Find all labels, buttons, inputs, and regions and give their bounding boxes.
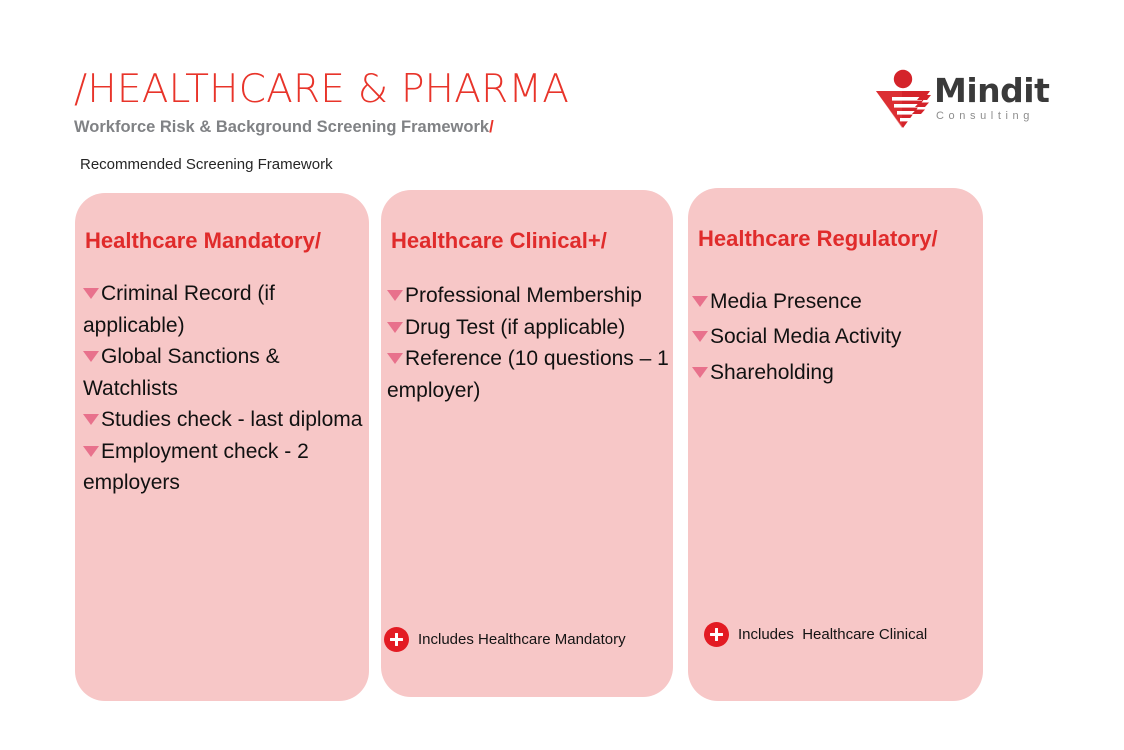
triangle-bullet-icon bbox=[83, 288, 99, 299]
card-title: Healthcare Mandatory/ bbox=[85, 228, 375, 254]
mindit-funnel-logo-icon bbox=[872, 68, 934, 130]
list-item: Reference (10 questions – 1 employer) bbox=[387, 343, 673, 406]
triangle-bullet-icon bbox=[692, 367, 708, 378]
list-item-label: Studies check - last diploma bbox=[101, 408, 362, 431]
list-item-label: Reference (10 questions – 1 employer) bbox=[387, 347, 669, 402]
list-item: Studies check - last diploma bbox=[83, 404, 365, 436]
list-item-label: Employment check - 2 employers bbox=[83, 440, 309, 495]
page-subtitle-slash: / bbox=[489, 118, 494, 136]
list-item-label: Professional Membership bbox=[405, 284, 642, 307]
list-item: Social Media Activity bbox=[692, 323, 982, 351]
list-item-label: Social Media Activity bbox=[710, 325, 901, 348]
card-item-list: Media Presence Social Media Activity Sha… bbox=[692, 288, 982, 394]
list-item: Employment check - 2 employers bbox=[83, 436, 365, 499]
list-item: Drug Test (if applicable) bbox=[387, 312, 673, 344]
triangle-bullet-icon bbox=[692, 331, 708, 342]
triangle-bullet-icon bbox=[83, 351, 99, 362]
list-item: Media Presence bbox=[692, 288, 982, 316]
triangle-bullet-icon bbox=[83, 446, 99, 457]
card-title: Healthcare Clinical+/ bbox=[391, 228, 681, 254]
section-kicker: Recommended Screening Framework bbox=[80, 156, 333, 173]
triangle-bullet-icon bbox=[387, 353, 403, 364]
logo-tagline: Consulting bbox=[936, 111, 1049, 122]
logo-wordmark: Mindit Consulting bbox=[934, 74, 1049, 122]
triangle-bullet-icon bbox=[387, 290, 403, 301]
list-item: Shareholding bbox=[692, 359, 982, 387]
list-item: Criminal Record (if applicable) bbox=[83, 278, 365, 341]
list-item-label: Global Sanctions & Watchlists bbox=[83, 345, 280, 400]
list-item-label: Media Presence bbox=[710, 290, 862, 313]
page-title: /HEALTHCARE & PHARMA bbox=[74, 70, 774, 109]
page-header: /HEALTHCARE & PHARMA Workforce Risk & Ba… bbox=[74, 70, 774, 136]
card-item-list: Criminal Record (if applicable) Global S… bbox=[83, 278, 365, 499]
page-subtitle-text: Workforce Risk & Background Screening Fr… bbox=[74, 118, 489, 136]
card-title: Healthcare Regulatory/ bbox=[698, 226, 988, 252]
page-subtitle: Workforce Risk & Background Screening Fr… bbox=[74, 118, 774, 136]
includes-note: Includes Healthcare Mandatory bbox=[384, 627, 626, 652]
framework-card-healthcare-clinical[interactable]: Healthcare Clinical+/ Professional Membe… bbox=[381, 190, 673, 697]
framework-card-healthcare-regulatory[interactable]: Healthcare Regulatory/ Media Presence So… bbox=[688, 188, 983, 701]
list-item: Global Sanctions & Watchlists bbox=[83, 341, 365, 404]
triangle-bullet-icon bbox=[692, 296, 708, 307]
includes-label: Includes Healthcare Mandatory bbox=[418, 631, 626, 648]
triangle-bullet-icon bbox=[387, 322, 403, 333]
framework-card-healthcare-mandatory[interactable]: Healthcare Mandatory/ Criminal Record (i… bbox=[75, 193, 369, 701]
list-item-label: Drug Test (if applicable) bbox=[405, 316, 625, 339]
plus-circle-icon bbox=[384, 627, 409, 652]
includes-label: Includes Healthcare Clinical bbox=[738, 626, 927, 643]
list-item: Professional Membership bbox=[387, 280, 673, 312]
triangle-bullet-icon bbox=[83, 414, 99, 425]
includes-note: Includes Healthcare Clinical bbox=[704, 622, 927, 647]
plus-circle-icon bbox=[704, 622, 729, 647]
logo-brand-name: Mindit bbox=[934, 74, 1049, 107]
brand-logo: Mindit Consulting bbox=[872, 66, 1052, 138]
list-item-label: Shareholding bbox=[710, 361, 834, 384]
card-item-list: Professional Membership Drug Test (if ap… bbox=[387, 280, 673, 406]
list-item-label: Criminal Record (if applicable) bbox=[83, 282, 275, 337]
